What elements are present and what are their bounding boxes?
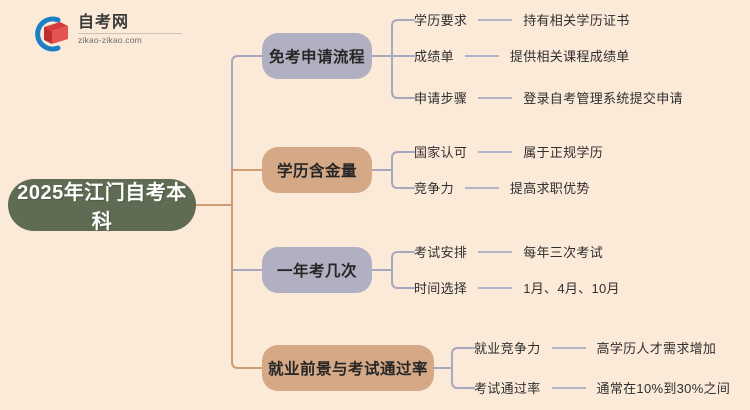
leaf-item[interactable]: 国家认可 属于正规学历 (414, 142, 603, 161)
leaf-label: 成绩单 (414, 46, 454, 65)
wire-b2-leaf-1 (392, 152, 414, 170)
leaf-value: 通常在10%到30%之间 (597, 378, 731, 397)
wire-b3-leaf-2 (392, 270, 414, 288)
leaf-value: 持有相关学历证书 (523, 10, 629, 29)
leaf-dash-icon (478, 151, 512, 153)
leaf-dash-icon (478, 97, 512, 99)
branch-node-1-label: 免考申请流程 (269, 45, 365, 67)
leaf-value: 提高求职优势 (510, 178, 590, 197)
leaf-label: 申请步骤 (414, 88, 467, 107)
wire-b1-leaf-1 (392, 20, 414, 56)
leaf-value: 提供相关课程成绩单 (510, 46, 630, 65)
leaf-item[interactable]: 时间选择 1月、4月、10月 (414, 278, 620, 297)
leaf-dash-icon (552, 387, 586, 389)
leaf-label: 竞争力 (414, 178, 454, 197)
wire-b1-leaf-3 (392, 56, 414, 98)
leaf-label: 学历要求 (414, 10, 467, 29)
leaf-dash-icon (465, 187, 499, 189)
branch-node-4-label: 就业前景与考试通过率 (268, 357, 428, 379)
wire-b2-leaf-2 (392, 170, 414, 188)
leaf-label: 时间选择 (414, 278, 467, 297)
branch-node-2[interactable]: 学历含金量 (262, 147, 372, 193)
root-node-label: 2025年江门自考本科 (8, 176, 196, 234)
leaf-dash-icon (552, 347, 586, 349)
mindmap-canvas: 自考网 zikao-zikao.com (0, 0, 750, 410)
root-node[interactable]: 2025年江门自考本科 (8, 179, 196, 231)
branch-node-1[interactable]: 免考申请流程 (262, 33, 372, 79)
leaf-item[interactable]: 考试通过率 通常在10%到30%之间 (474, 378, 730, 397)
leaf-label: 考试通过率 (474, 378, 541, 397)
wire-b4-leaf-2 (452, 368, 474, 388)
leaf-item[interactable]: 就业竞争力 高学历人才需求增加 (474, 338, 716, 357)
wire-b4-leaf-1 (452, 348, 474, 368)
wire-trunk-branch-1 (232, 56, 262, 205)
leaf-dash-icon (478, 287, 512, 289)
leaf-dash-icon (478, 251, 512, 253)
branch-node-2-label: 学历含金量 (277, 159, 357, 181)
leaf-label: 考试安排 (414, 242, 467, 261)
leaf-item[interactable]: 申请步骤 登录自考管理系统提交申请 (414, 88, 683, 107)
wire-trunk-branch-3 (232, 205, 262, 270)
leaf-item[interactable]: 考试安排 每年三次考试 (414, 242, 603, 261)
leaf-value: 属于正规学历 (523, 142, 603, 161)
leaf-item[interactable]: 成绩单 提供相关课程成绩单 (414, 46, 630, 65)
leaf-value: 高学历人才需求增加 (597, 338, 717, 357)
branch-node-4[interactable]: 就业前景与考试通过率 (262, 345, 434, 391)
wire-trunk-branch-4 (232, 205, 262, 368)
leaf-value: 登录自考管理系统提交申请 (523, 88, 683, 107)
branch-node-3-label: 一年考几次 (277, 259, 357, 281)
branch-node-3[interactable]: 一年考几次 (262, 247, 372, 293)
wire-trunk-branch-2 (232, 170, 262, 205)
leaf-value: 每年三次考试 (523, 242, 603, 261)
leaf-label: 就业竞争力 (474, 338, 541, 357)
leaf-item[interactable]: 竞争力 提高求职优势 (414, 178, 590, 197)
leaf-label: 国家认可 (414, 142, 467, 161)
wire-b3-leaf-1 (392, 252, 414, 270)
leaf-item[interactable]: 学历要求 持有相关学历证书 (414, 10, 630, 29)
leaf-dash-icon (465, 55, 499, 57)
leaf-value: 1月、4月、10月 (523, 278, 620, 297)
leaf-dash-icon (478, 19, 512, 21)
